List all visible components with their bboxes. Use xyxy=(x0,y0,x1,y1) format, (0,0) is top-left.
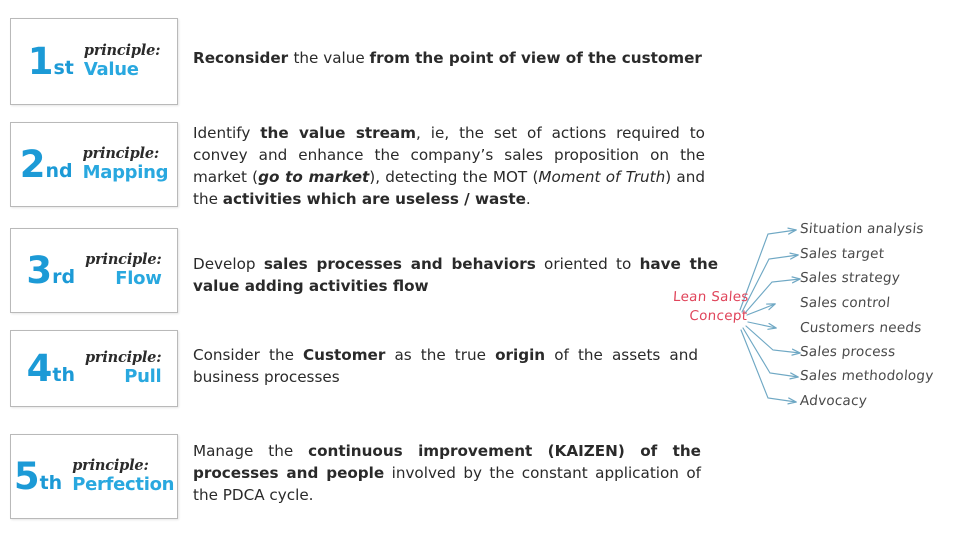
branch-item-sales-strategy: Sales strategy xyxy=(799,270,900,286)
principle-box-4: 4th principle: Pull xyxy=(10,330,178,407)
branch-item-situation-analysis: Situation analysis xyxy=(799,221,924,237)
concept-title-line-2: Concept xyxy=(655,307,748,326)
principle-1-label: principle: Value xyxy=(84,43,160,79)
principle-2-ordinal: 2nd xyxy=(20,146,73,183)
principle-3-label: principle: Flow xyxy=(85,252,161,288)
principle-box-3-content: 3rd principle: Flow xyxy=(20,252,167,289)
principle-5-word: principle: xyxy=(72,458,174,474)
principle-box-2: 2nd principle: Mapping xyxy=(10,122,178,207)
branch-item-sales-control: Sales control xyxy=(799,295,891,311)
principle-4-ordinal-number: 4 xyxy=(27,350,52,387)
principle-1-ordinal-suffix: st xyxy=(53,59,73,78)
principle-box-3: 3rd principle: Flow xyxy=(10,228,178,313)
principle-box-4-content: 4th principle: Pull xyxy=(21,350,168,387)
concept-title-line-1: Lean Sales xyxy=(656,288,749,307)
principle-box-5: 5th principle: Perfection xyxy=(10,434,178,519)
principle-4-word: principle: xyxy=(85,350,161,366)
principle-1-ordinal: 1st xyxy=(28,43,74,80)
principle-4-description: Consider the Customer as the true origin… xyxy=(193,344,698,388)
arrow-to-sales-methodology xyxy=(743,328,798,377)
principle-4-name: Pull xyxy=(85,367,161,387)
principle-4-ordinal-suffix: th xyxy=(52,366,75,385)
principle-3-ordinal-number: 3 xyxy=(26,252,51,289)
arrow-to-sales-strategy xyxy=(745,279,800,313)
principle-5-label: principle: Perfection xyxy=(72,458,174,494)
principle-5-name: Perfection xyxy=(72,475,174,495)
branch-item-sales-methodology: Sales methodology xyxy=(799,368,934,384)
principle-3-name: Flow xyxy=(85,269,161,289)
principle-3-description: Develop sales processes and behaviors or… xyxy=(193,253,718,297)
concept-title: Lean Sales Concept xyxy=(655,288,750,325)
principle-1-ordinal-number: 1 xyxy=(28,43,53,80)
principle-4-ordinal: 4th xyxy=(27,350,75,387)
principle-3-ordinal-suffix: rd xyxy=(52,268,75,287)
principle-2-name: Mapping xyxy=(83,163,169,183)
principle-5-description: Manage the continuous improvement (KAIZE… xyxy=(193,440,701,506)
branch-item-sales-process: Sales process xyxy=(799,344,896,360)
principle-5-ordinal-suffix: th xyxy=(40,474,63,493)
principle-3-word: principle: xyxy=(85,252,161,268)
principle-2-ordinal-number: 2 xyxy=(20,146,45,183)
branch-item-customers-needs: Customers needs xyxy=(799,320,922,336)
principle-box-1-content: 1st principle: Value xyxy=(22,43,167,80)
arrow-to-customers-needs xyxy=(748,322,776,328)
principle-5-ordinal: 5th xyxy=(14,458,62,495)
principle-box-2-content: 2nd principle: Mapping xyxy=(14,146,175,183)
principle-box-5-content: 5th principle: Perfection xyxy=(8,458,180,495)
principle-2-ordinal-suffix: nd xyxy=(46,162,73,181)
principle-4-label: principle: Pull xyxy=(85,350,161,386)
principle-2-label: principle: Mapping xyxy=(83,146,169,182)
branch-item-sales-target: Sales target xyxy=(799,246,885,262)
principle-box-1: 1st principle: Value xyxy=(10,18,178,105)
arrow-to-sales-process xyxy=(746,326,800,353)
principle-3-ordinal: 3rd xyxy=(26,252,75,289)
principle-1-name: Value xyxy=(84,60,160,80)
lean-sales-concept-diagram: Lean Sales Concept Situation analysis Sa… xyxy=(648,214,960,420)
arrow-to-advocacy xyxy=(741,330,796,402)
principle-1-word: principle: xyxy=(84,43,160,59)
branch-item-advocacy: Advocacy xyxy=(799,393,867,409)
principle-5-ordinal-number: 5 xyxy=(14,458,39,495)
principle-1-description: Reconsider the value from the point of v… xyxy=(193,47,713,69)
principle-2-word: principle: xyxy=(83,146,169,162)
principle-2-description: Identify the value stream, ie, the set o… xyxy=(193,122,705,210)
